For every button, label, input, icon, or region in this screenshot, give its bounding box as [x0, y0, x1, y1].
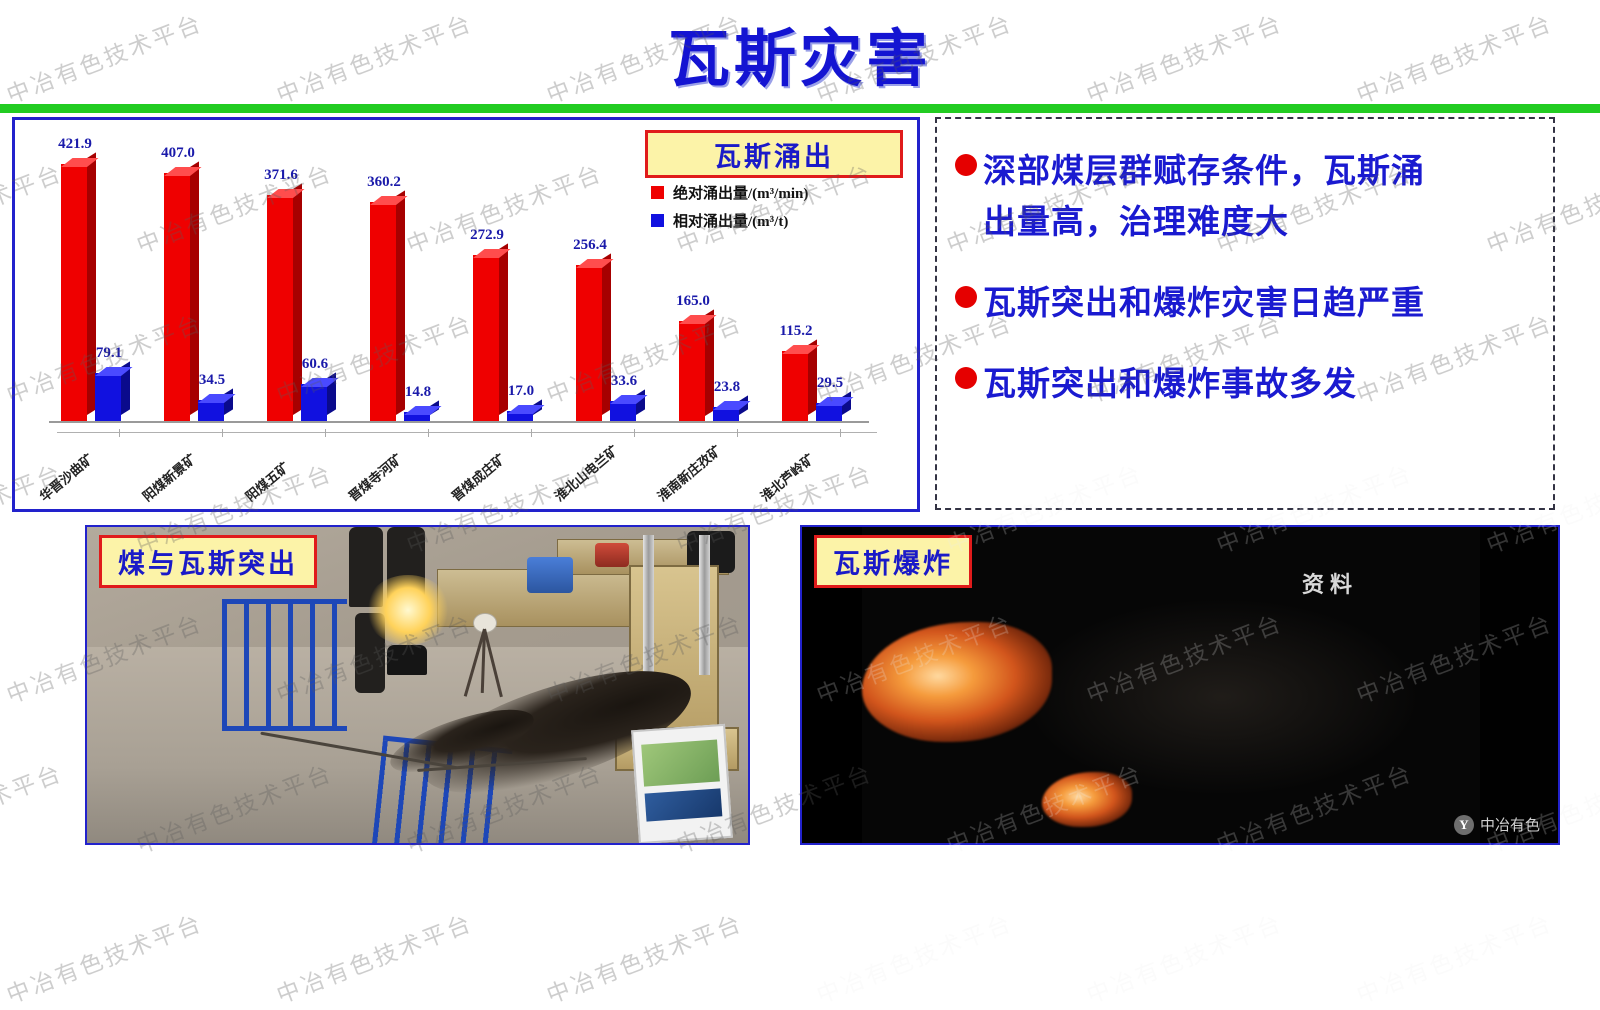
bullet-text: 瓦斯突出和爆炸事故多发	[983, 358, 1357, 409]
bar-value-label: 29.5	[800, 375, 860, 392]
watermark-text: 中冶有色技术平台	[1081, 904, 1287, 1010]
bar-absolute	[576, 265, 602, 421]
chart-axis-line	[49, 421, 869, 423]
category-label: 晋煤成庄矿	[447, 449, 509, 505]
category-label: 阳煤五矿	[241, 457, 293, 505]
category-label: 淮南新庄孜矿	[653, 440, 725, 505]
category-label: 阳煤新景矿	[138, 449, 200, 505]
placard-image	[641, 740, 719, 787]
tripod	[457, 613, 517, 693]
bar-value-label: 14.8	[388, 384, 448, 401]
bar-value-label: 23.8	[697, 379, 757, 396]
bar-value-label: 371.6	[251, 167, 311, 184]
axis-tick	[737, 429, 738, 437]
bullet-item: 瓦斯突出和爆炸灾害日趋严重	[955, 277, 1543, 328]
bar-value-label: 60.6	[285, 356, 345, 373]
coal-gas-outburst-photo: 煤与瓦斯突出	[85, 525, 750, 845]
chart-title-badge: 瓦斯涌出	[645, 130, 903, 178]
category-label: 华晋沙曲矿	[35, 449, 97, 505]
red-equipment	[595, 543, 629, 567]
bar-absolute	[61, 164, 87, 421]
bar-relative	[507, 411, 533, 421]
watermark-text: 中冶有色技术平台	[1, 904, 207, 1010]
equipment-case	[387, 645, 427, 675]
bullet-dot-icon	[955, 367, 977, 389]
bar-relative	[610, 401, 636, 421]
watermark-text: 中冶有色技术平台	[811, 904, 1017, 1010]
axis-tick	[222, 429, 223, 437]
photo-right-caption: 瓦斯爆炸	[814, 535, 972, 588]
legend-label-relative: 相对涌出量/(m³/t)	[673, 210, 788, 231]
bar-value-label: 407.0	[148, 145, 208, 162]
bullet-text: 瓦斯突出和爆炸灾害日趋严重	[983, 277, 1425, 328]
bar-value-label: 34.5	[182, 372, 242, 389]
weld-flash-icon	[365, 575, 451, 645]
bullet-dot-icon	[955, 286, 977, 308]
bar-relative	[816, 403, 842, 421]
bar-value-label: 421.9	[45, 136, 105, 153]
axis-tick	[531, 429, 532, 437]
legend-swatch-red-icon	[651, 186, 664, 199]
gas-explosion-photo: 资料 Y 中冶有色 瓦斯爆炸	[800, 525, 1560, 845]
chart-plot-area: 421.979.1华晋沙曲矿407.034.5阳煤新景矿371.660.6阳煤五…	[15, 120, 917, 509]
page-title: 瓦斯灾害	[0, 8, 1600, 98]
watermark-text: 中冶有色技术平台	[1351, 904, 1557, 1010]
video-logo-watermark: Y 中冶有色	[1454, 814, 1540, 835]
info-placard	[631, 724, 733, 844]
bar-value-label: 360.2	[354, 174, 414, 191]
bar-absolute	[267, 195, 293, 421]
legend-label-absolute: 绝对涌出量/(m³/min)	[673, 182, 808, 203]
bar-value-label: 165.0	[663, 293, 723, 310]
watermark-text: 中冶有色技术平台	[541, 904, 747, 1010]
globe-icon: Y	[1454, 815, 1474, 835]
bar-value-label: 79.1	[79, 345, 139, 362]
blue-machine	[527, 557, 573, 593]
title-divider	[0, 104, 1600, 113]
category-label: 淮北山电兰矿	[550, 440, 622, 505]
blue-fence	[222, 599, 347, 731]
bar-value-label: 33.6	[594, 373, 654, 390]
bullet-item: 深部煤层群赋存条件，瓦斯涌出量高，治理难度大	[955, 145, 1543, 247]
legend-item-relative: 相对涌出量/(m³/t)	[651, 210, 808, 231]
bar-relative	[198, 400, 224, 421]
bar-value-label: 272.9	[457, 227, 517, 244]
bar-value-label: 115.2	[766, 323, 826, 340]
axis-tick	[428, 429, 429, 437]
bar-value-label: 17.0	[491, 383, 551, 400]
press-rod	[699, 535, 710, 675]
legend-swatch-blue-icon	[651, 214, 664, 227]
bar-relative	[301, 384, 327, 421]
placard-text-block	[645, 788, 722, 822]
gas-emission-chart-panel: 421.979.1华晋沙曲矿407.034.5阳煤新景矿371.660.6阳煤五…	[12, 117, 920, 512]
bar-relative	[404, 412, 430, 421]
watermark-text: 中冶有色技术平台	[0, 754, 67, 860]
category-label: 淮北芦岭矿	[756, 449, 818, 505]
watermark-text: 中冶有色技术平台	[271, 904, 477, 1010]
smoke-haze	[1022, 597, 1422, 797]
bar-relative	[713, 407, 739, 421]
key-points-panel: 深部煤层群赋存条件，瓦斯涌出量高，治理难度大 瓦斯突出和爆炸灾害日趋严重 瓦斯突…	[935, 117, 1555, 510]
bar-relative	[95, 373, 121, 421]
bullet-text: 深部煤层群赋存条件，瓦斯涌出量高，治理难度大	[983, 145, 1425, 247]
bar-value-label: 256.4	[560, 237, 620, 254]
photo-left-caption: 煤与瓦斯突出	[99, 535, 317, 588]
legend-item-absolute: 绝对涌出量/(m³/min)	[651, 182, 808, 203]
video-overlay-note: 资料	[1302, 567, 1358, 599]
axis-tick	[325, 429, 326, 437]
video-logo-text: 中冶有色	[1480, 814, 1540, 835]
axis-tick	[119, 429, 120, 437]
bar-absolute	[679, 321, 705, 422]
dark-edge-right	[1480, 527, 1558, 843]
press-rod	[643, 535, 654, 675]
tripod-leg	[483, 629, 503, 698]
axis-tick	[840, 429, 841, 437]
bullet-item: 瓦斯突出和爆炸事故多发	[955, 358, 1543, 409]
bullet-dot-icon	[955, 154, 977, 176]
axis-tick	[634, 429, 635, 437]
chart-legend: 绝对涌出量/(m³/min) 相对涌出量/(m³/t)	[651, 182, 808, 238]
chart-axis-depth-line	[57, 432, 877, 433]
category-label: 晋煤寺河矿	[344, 449, 406, 505]
